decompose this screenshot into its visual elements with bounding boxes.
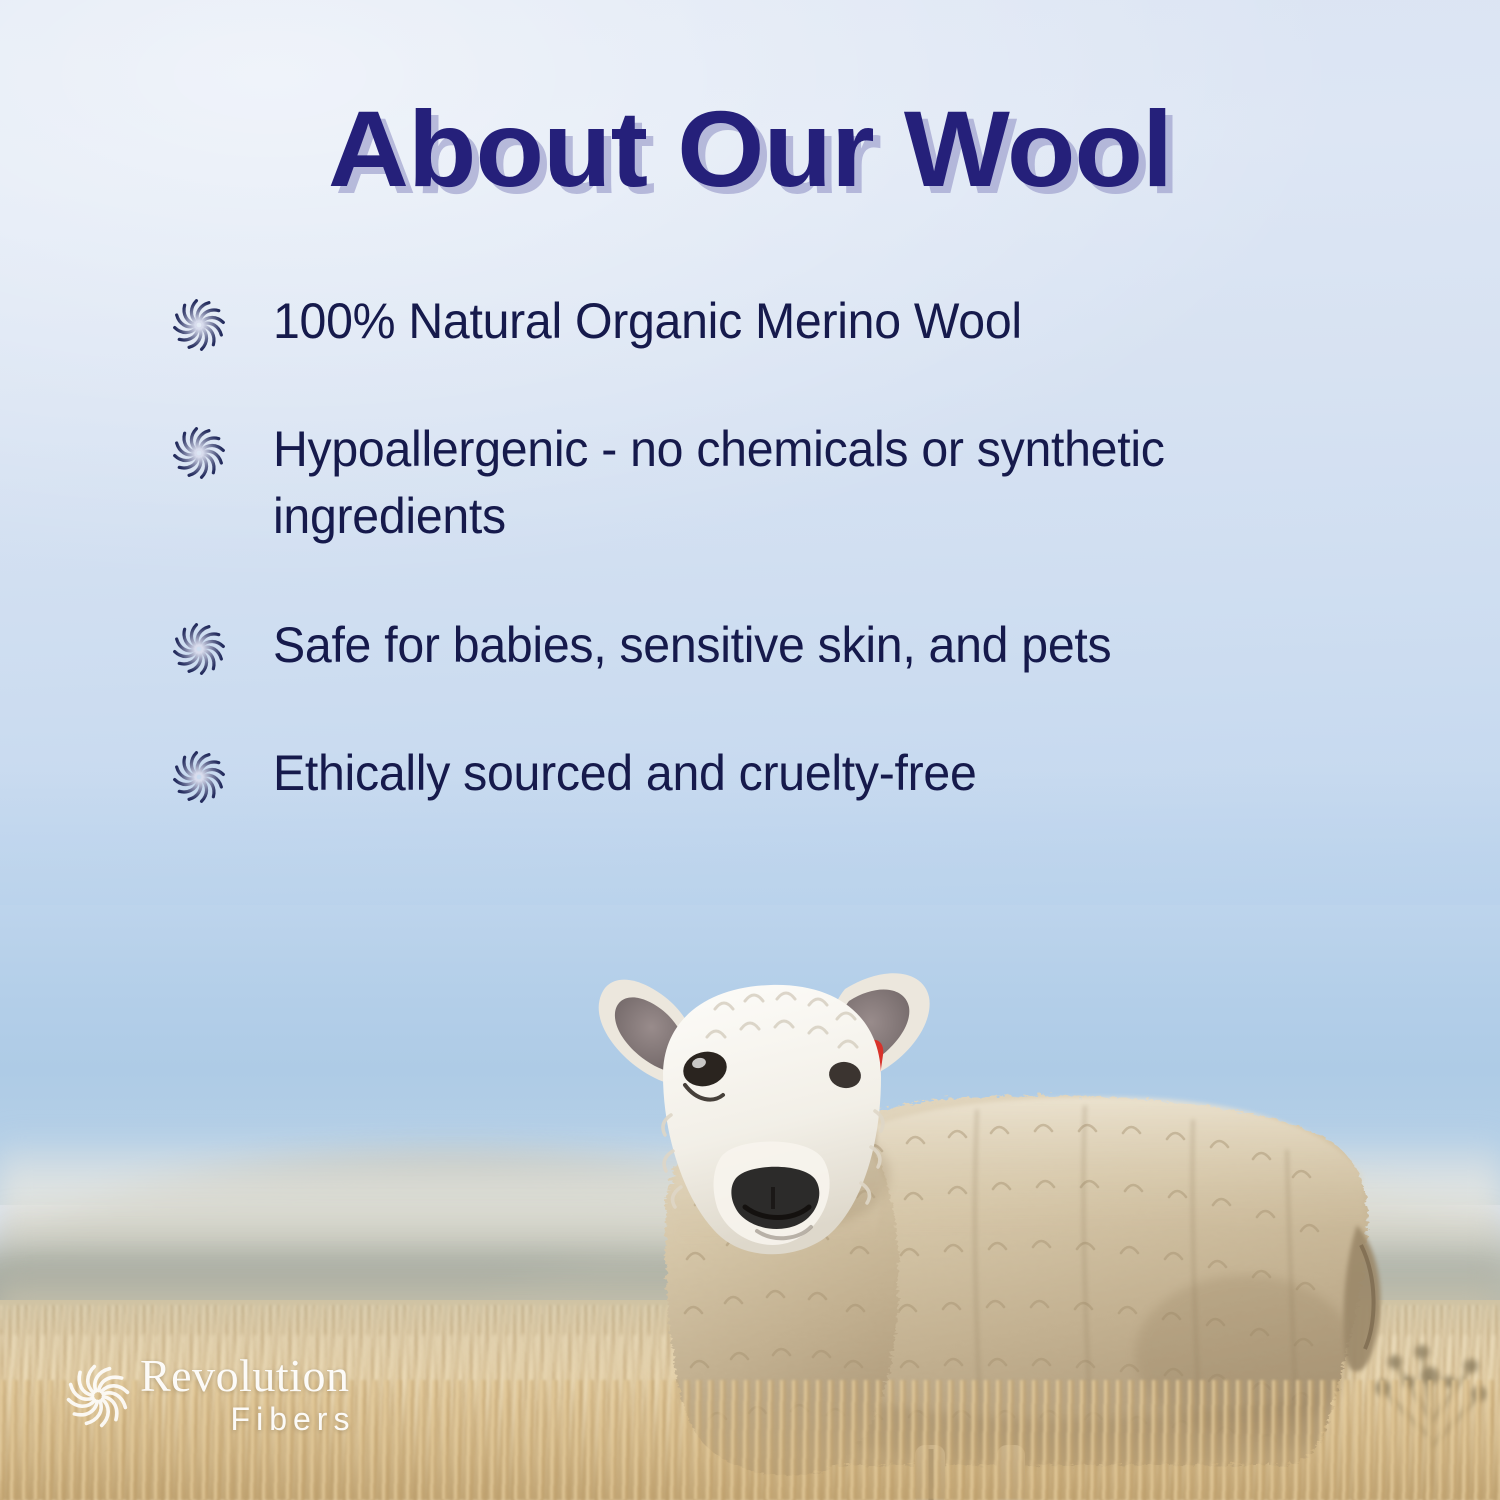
feature-list: 100% Natural Organic Merino Wool [168, 288, 1358, 868]
logo-secondary-text: Fibers [231, 1401, 356, 1438]
list-item-label: Safe for babies, sensitive skin, and pet… [273, 612, 1111, 679]
list-item-label: 100% Natural Organic Merino Wool [273, 288, 1022, 355]
list-item-label: Ethically sourced and cruelty-free [273, 740, 977, 807]
list-item-label: Hypoallergenic - no chemicals or synthet… [273, 416, 1315, 550]
list-item: 100% Natural Organic Merino Wool [168, 288, 1358, 356]
page-title: About Our Wool [0, 92, 1500, 205]
list-item: Hypoallergenic - no chemicals or synthet… [168, 416, 1358, 550]
logo-primary-text: Revolution [140, 1353, 349, 1399]
swirl-icon [168, 422, 230, 484]
list-item: Safe for babies, sensitive skin, and pet… [168, 612, 1358, 680]
list-item: Ethically sourced and cruelty-free [168, 740, 1358, 808]
swirl-icon [168, 618, 230, 680]
wool-infographic: About Our Wool [0, 0, 1500, 1500]
swirl-icon [62, 1360, 134, 1432]
swirl-icon [168, 746, 230, 808]
swirl-icon [168, 294, 230, 356]
logo-wordmark: Revolution Fibers [140, 1353, 349, 1438]
brand-logo: Revolution Fibers [62, 1353, 349, 1438]
